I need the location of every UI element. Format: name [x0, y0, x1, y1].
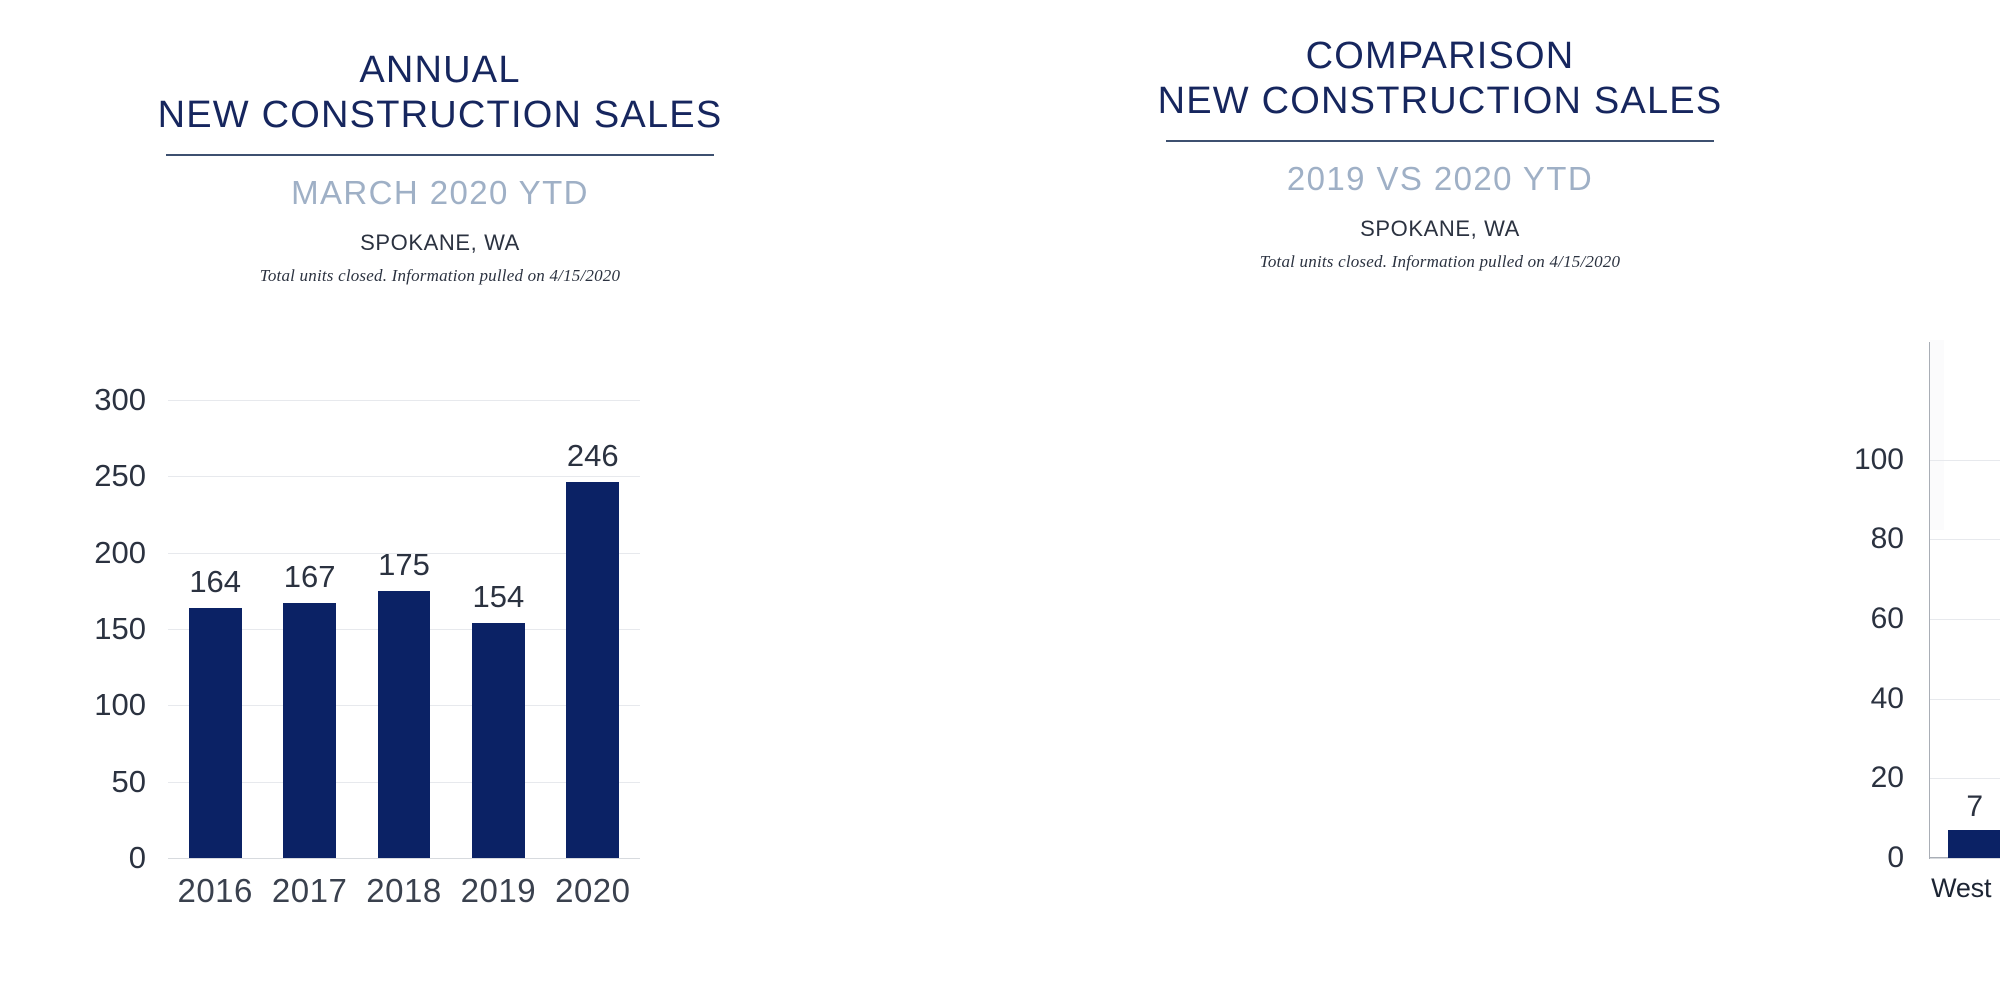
y-axis-tick-label: 50 — [112, 764, 146, 800]
x-axis-tick-label: 2020 — [555, 872, 630, 910]
comparison-bar-chart: 20192020 020406080100753West Plains2731S… — [1930, 420, 2000, 858]
y-axis-tick-label: 150 — [94, 611, 146, 647]
slide-canvas: ANNUAL NEW CONSTRUCTION SALES MARCH 2020… — [0, 0, 2000, 992]
y-axis-tick-label: 0 — [129, 840, 146, 876]
bar-value-label: 167 — [284, 559, 336, 595]
comparison-header: COMPARISON NEW CONSTRUCTION SALES 2019 V… — [880, 34, 2000, 272]
gridline: 300 — [168, 400, 640, 401]
y-axis-tick-label: 0 — [1887, 841, 1904, 875]
bar-value-label: 164 — [189, 564, 241, 600]
annual-header: ANNUAL NEW CONSTRUCTION SALES MARCH 2020… — [0, 48, 880, 286]
comparison-title-divider — [1166, 140, 1714, 142]
y-axis-tick-label: 40 — [1871, 682, 1904, 716]
x-axis-tick-label: 2018 — [366, 872, 441, 910]
annual-subtitle: MARCH 2020 YTD — [0, 174, 880, 212]
gridline: 80 — [1930, 539, 2000, 540]
y-axis-tick-label: 200 — [94, 535, 146, 571]
y-axis-tick-label: 100 — [1854, 443, 1904, 477]
annual-title-line-2: NEW CONSTRUCTION SALES — [0, 93, 880, 138]
annual-note: Total units closed. Information pulled o… — [0, 266, 880, 286]
x-axis-tick-label: West Plains — [1931, 872, 2000, 905]
y-axis-tick-label: 100 — [94, 687, 146, 723]
gridline: 100 — [1930, 460, 2000, 461]
y-axis-tick-label: 80 — [1871, 522, 1904, 556]
gridline: 40 — [1930, 699, 2000, 700]
y-axis-tick-label: 20 — [1871, 761, 1904, 795]
gridline: 0 — [1930, 858, 2000, 859]
comparison-subtitle: 2019 VS 2020 YTD — [880, 160, 2000, 198]
gridline: 20 — [1930, 778, 2000, 779]
bar[interactable]: 154 — [472, 623, 525, 858]
annual-bar-chart: 0501001502002503001642016167201717520181… — [168, 400, 640, 858]
x-axis-tick-line: West Plains — [1931, 872, 2000, 905]
gridline: 250 — [168, 476, 640, 477]
comparison-location: SPOKANE, WA — [880, 216, 2000, 242]
comparison-sales-panel: COMPARISON NEW CONSTRUCTION SALES 2019 V… — [880, 0, 2000, 992]
gridline: 0 — [168, 858, 640, 859]
x-axis-tick-label: 2016 — [177, 872, 252, 910]
annual-plot-area: 0501001502002503001642016167201717520181… — [168, 400, 640, 858]
annual-location: SPOKANE, WA — [0, 230, 880, 256]
bar-2019[interactable]: 7 — [1948, 830, 2000, 858]
comparison-note: Total units closed. Information pulled o… — [880, 252, 2000, 272]
bar-value-label: 7 — [1966, 790, 1983, 824]
annual-sales-panel: ANNUAL NEW CONSTRUCTION SALES MARCH 2020… — [0, 0, 880, 992]
bar[interactable]: 246 — [566, 482, 619, 858]
y-axis-tick-label: 60 — [1871, 602, 1904, 636]
bar-value-label: 175 — [378, 547, 430, 583]
comparison-title-line-1: COMPARISON — [880, 34, 2000, 79]
annual-title-divider — [166, 154, 714, 156]
comparison-title-line-2: NEW CONSTRUCTION SALES — [880, 79, 2000, 124]
y-axis-tick-label: 300 — [94, 382, 146, 418]
bar[interactable]: 175 — [378, 591, 431, 858]
x-axis-tick-label: 2019 — [461, 872, 536, 910]
bar-value-label: 154 — [473, 579, 525, 615]
y-axis-tick-label: 250 — [94, 458, 146, 494]
bar[interactable]: 164 — [189, 608, 242, 858]
annual-title-line-1: ANNUAL — [0, 48, 880, 93]
gridline: 60 — [1930, 619, 2000, 620]
x-axis-tick-label: 2017 — [272, 872, 347, 910]
comparison-plot-area: 020406080100753West Plains2731SpokaneSou… — [1930, 420, 2000, 858]
bar-value-label: 246 — [567, 438, 619, 474]
bar[interactable]: 167 — [283, 603, 336, 858]
